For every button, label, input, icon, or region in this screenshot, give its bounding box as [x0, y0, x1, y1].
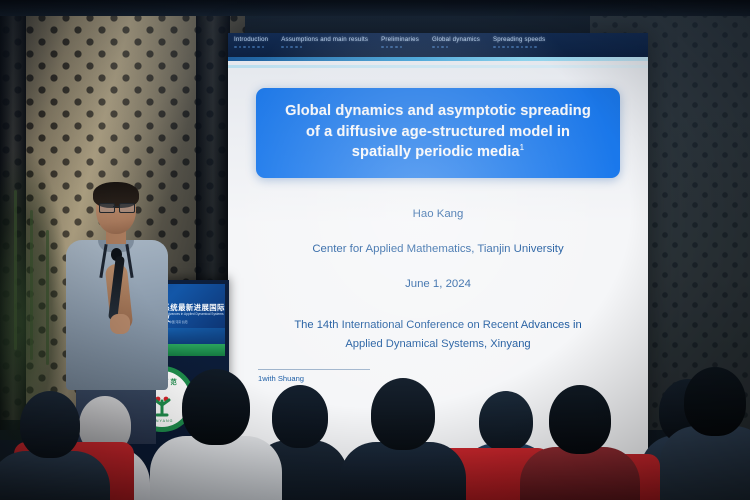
- nav-dot-icon[interactable]: [525, 46, 528, 49]
- nav-section-dots[interactable]: [281, 46, 368, 49]
- ceiling-beam: [0, 0, 750, 16]
- nav-dot-icon[interactable]: [262, 46, 265, 49]
- nav-dot-icon[interactable]: [446, 46, 449, 49]
- nav-section-3[interactable]: Global dynamics: [432, 36, 480, 48]
- nav-underline: [228, 57, 648, 61]
- nav-dot-icon[interactable]: [243, 46, 246, 49]
- nav-dot-icon[interactable]: [252, 46, 255, 49]
- nav-dot-icon[interactable]: [290, 46, 293, 49]
- nav-dot-icon[interactable]: [493, 46, 496, 49]
- audience-head: [20, 391, 80, 458]
- audience: [0, 340, 750, 500]
- title-line-1: Global dynamics and asymptotic spreading: [270, 101, 606, 122]
- nav-section-dots[interactable]: [381, 46, 419, 49]
- nav-section-4[interactable]: Spreading speeds: [493, 36, 545, 48]
- speaker-hand: [110, 314, 130, 334]
- nav-section-2[interactable]: Preliminaries: [381, 36, 419, 48]
- audience-shoulders: [150, 436, 282, 500]
- conference-line-1: The 14th International Conference on Rec…: [228, 316, 648, 334]
- nav-section-label: Introduction: [234, 36, 268, 43]
- nav-dot-icon[interactable]: [507, 46, 510, 49]
- nav-dot-icon[interactable]: [381, 46, 384, 49]
- glasses-lens-right: [119, 203, 135, 213]
- nav-dot-icon[interactable]: [400, 46, 403, 49]
- conference-photo: IntroductionAssumptions and main results…: [0, 0, 750, 500]
- author-name: Hao Kang: [228, 208, 648, 220]
- audience-member: [150, 390, 282, 500]
- nav-dot-icon[interactable]: [248, 46, 251, 49]
- nav-dot-icon[interactable]: [516, 46, 519, 49]
- audience-member: [340, 400, 466, 500]
- nav-dot-icon[interactable]: [534, 46, 537, 49]
- nav-dot-icon[interactable]: [257, 46, 260, 49]
- nav-dot-icon[interactable]: [281, 46, 284, 49]
- audience-shoulders: [660, 426, 750, 500]
- plant-stalk: [14, 190, 17, 350]
- nav-section-label: Global dynamics: [432, 36, 480, 43]
- audience-shoulders: [520, 447, 640, 500]
- nav-dot-icon[interactable]: [386, 46, 389, 49]
- nav-dot-icon[interactable]: [300, 46, 303, 49]
- title-line-3-text: spatially periodic media: [352, 144, 520, 160]
- audience-head: [371, 378, 435, 450]
- audience-member: [520, 408, 640, 500]
- nav-dot-icon[interactable]: [286, 46, 289, 49]
- nav-dot-icon[interactable]: [530, 46, 533, 49]
- nav-dot-icon[interactable]: [234, 46, 237, 49]
- nav-dot-icon[interactable]: [395, 46, 398, 49]
- audience-shoulders: [340, 442, 466, 500]
- nav-dot-icon[interactable]: [441, 46, 444, 49]
- title-line-3: spatially periodic media1: [270, 142, 606, 163]
- audience-member: [660, 372, 750, 500]
- speaker-glasses-icon: [99, 203, 133, 211]
- author-affiliation: Center for Applied Mathematics, Tianjin …: [228, 243, 648, 255]
- audience-head: [182, 369, 250, 445]
- plant-stalk: [30, 210, 33, 360]
- nav-dot-icon[interactable]: [390, 46, 393, 49]
- title-footnote-marker: 1: [520, 144, 525, 153]
- title-line-2: of a diffusive age-structured model in: [270, 122, 606, 143]
- nav-section-dots[interactable]: [493, 46, 545, 49]
- nav-dot-icon[interactable]: [521, 46, 524, 49]
- audience-head: [684, 367, 746, 436]
- glasses-lens-left: [99, 203, 115, 213]
- audience-member: [0, 416, 110, 500]
- audience-head: [549, 385, 611, 454]
- nav-section-1[interactable]: Assumptions and main results: [281, 36, 368, 48]
- nav-dot-icon[interactable]: [239, 46, 242, 49]
- audience-shoulders: [0, 451, 110, 500]
- presentation-date: June 1, 2024: [228, 278, 648, 290]
- nav-dot-icon[interactable]: [498, 46, 501, 49]
- nav-dot-icon[interactable]: [437, 46, 440, 49]
- nav-section-label: Preliminaries: [381, 36, 419, 43]
- nav-section-label: Assumptions and main results: [281, 36, 368, 43]
- slide-meta: Hao Kang Center for Applied Mathematics,…: [228, 208, 648, 290]
- nav-section-dots[interactable]: [432, 46, 480, 49]
- nav-dot-icon[interactable]: [432, 46, 435, 49]
- nav-section-dots[interactable]: [234, 46, 268, 49]
- nav-dot-icon[interactable]: [295, 46, 298, 49]
- nav-section-label: Spreading speeds: [493, 36, 545, 43]
- slide-navigation-bar: IntroductionAssumptions and main results…: [228, 33, 648, 61]
- nav-dot-icon[interactable]: [511, 46, 514, 49]
- slide-title-box: Global dynamics and asymptotic spreading…: [256, 88, 620, 178]
- nav-dot-icon[interactable]: [502, 46, 505, 49]
- nav-section-0[interactable]: Introduction: [234, 36, 268, 48]
